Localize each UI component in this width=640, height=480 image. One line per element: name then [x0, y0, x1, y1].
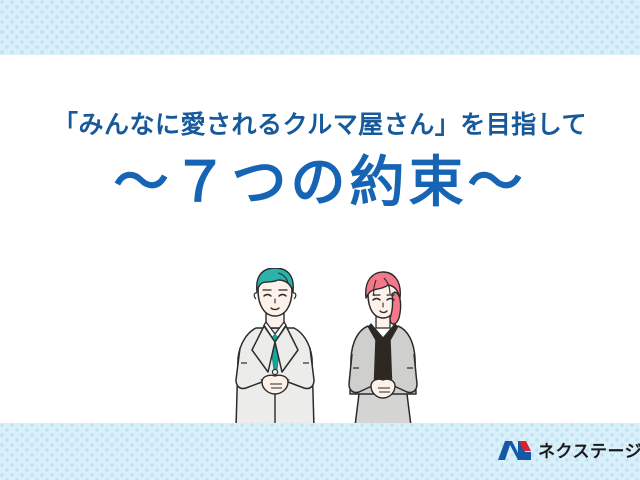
brand-logo: ネクステージ — [498, 440, 640, 462]
brand-logo-text: ネクステージ — [538, 443, 640, 460]
headline-subtitle: 「みんなに愛されるクルマ屋さん」を目指して — [0, 110, 640, 140]
staff-illustration — [228, 268, 433, 428]
promotional-banner: 「みんなに愛されるクルマ屋さん」を目指して 〜７つの約束〜 — [0, 0, 640, 480]
headline-block: 「みんなに愛されるクルマ屋さん」を目指して 〜７つの約束〜 — [0, 110, 640, 212]
nextage-n-mark-icon — [498, 440, 531, 462]
female-staff-figure — [349, 272, 417, 428]
male-staff-figure — [236, 268, 314, 428]
headline-title: 〜７つの約束〜 — [0, 154, 640, 212]
top-dot-band — [0, 0, 640, 55]
staff-illustration-svg — [228, 268, 433, 428]
